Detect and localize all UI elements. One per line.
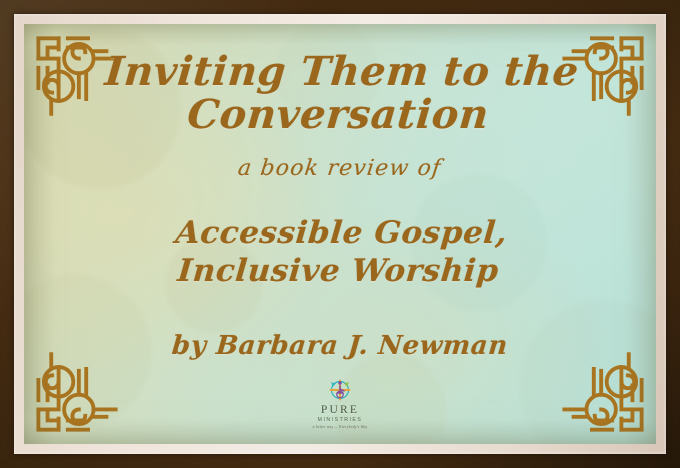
frame-mat: Inviting Them to the Conversation a book… — [14, 14, 666, 454]
slide-content: Inviting Them to the Conversation a book… — [24, 24, 656, 444]
slide-title: Inviting Them to the Conversation — [66, 50, 614, 136]
slide-title-line-2: Conversation — [66, 93, 610, 136]
picture-frame: Inviting Them to the Conversation a book… — [0, 0, 680, 468]
book-title-line-1: Accessible Gospel, — [174, 215, 509, 251]
slide-paper-canvas: Inviting Them to the Conversation a book… — [24, 24, 656, 444]
book-title: Accessible Gospel, Inclusive Worship — [171, 215, 509, 291]
slide-kicker: a book review of — [237, 156, 444, 181]
slide-title-line-1: Inviting Them to the — [103, 48, 581, 95]
book-title-line-2: Inclusive Worship — [171, 253, 506, 291]
book-author: by Barbara J. Newman — [171, 331, 509, 361]
